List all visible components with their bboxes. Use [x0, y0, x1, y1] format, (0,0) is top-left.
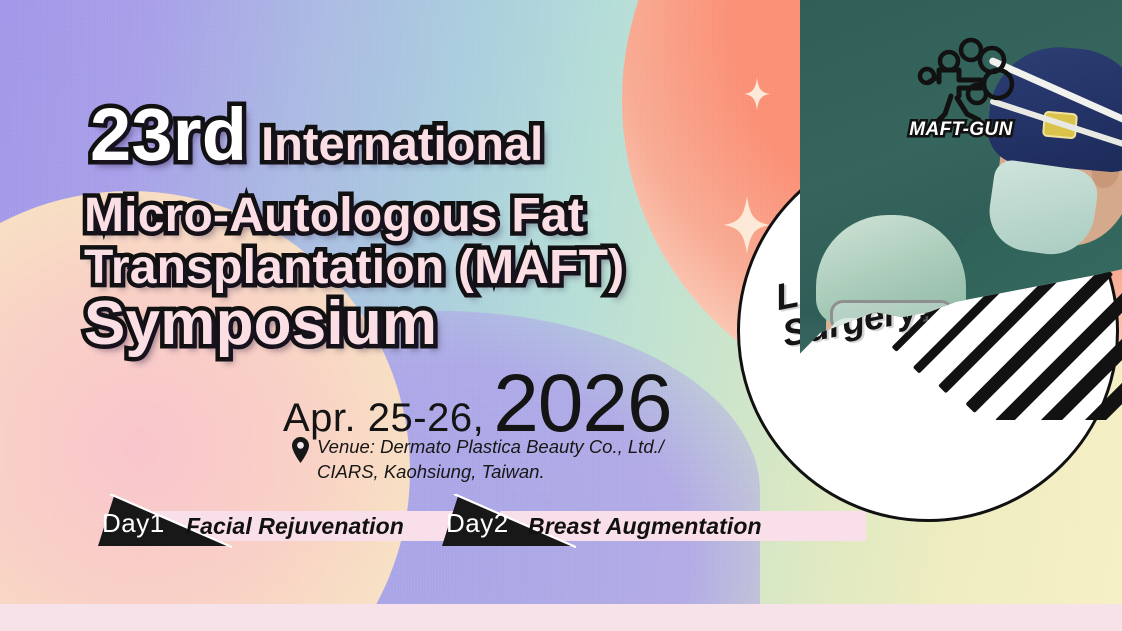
- sparkle-small-icon: [744, 78, 770, 110]
- title-line-3: Transplantation (MAFT): [84, 240, 624, 295]
- event-venue: Venue: Dermato Plastica Beauty Co., Ltd.…: [292, 435, 664, 484]
- day1-topic: Facial Rejuvenation: [186, 513, 404, 540]
- title-line-4: Symposium: [84, 288, 437, 359]
- venue-text: Venue: Dermato Plastica Beauty Co., Ltd.…: [317, 435, 664, 484]
- event-banner: 23rdInternational Micro-Autologous Fat T…: [0, 0, 1122, 631]
- title-international: International: [261, 117, 543, 170]
- title-line-1: 23rdInternational: [90, 92, 543, 177]
- event-date: Apr. 25-26, 2026: [283, 370, 672, 441]
- venue-line-1: Venue: Dermato Plastica Beauty Co., Ltd.…: [317, 436, 664, 457]
- maft-gun-logo-icon: MAFT-GUN: [905, 32, 1017, 142]
- live-surgery-artwork: Live Surgery!: [700, 0, 1122, 631]
- day-ribbon: Day1 Facial Rejuvenation Day2 Breast Aug…: [98, 502, 798, 548]
- headline-column: 23rdInternational Micro-Autologous Fat T…: [0, 0, 720, 631]
- bottom-accent-strip: [0, 604, 1122, 631]
- venue-line-2: CIARS, Kaohsiung, Taiwan.: [317, 461, 545, 482]
- title-line-2: Micro-Autologous Fat: [84, 188, 584, 243]
- date-year: 2026: [493, 370, 671, 437]
- title-ordinal: 23rd: [90, 93, 247, 176]
- svg-text:MAFT-GUN: MAFT-GUN: [909, 119, 1013, 140]
- location-pin-icon: [292, 437, 309, 463]
- day1-label: Day1: [102, 508, 165, 539]
- day2-label: Day2: [446, 508, 509, 539]
